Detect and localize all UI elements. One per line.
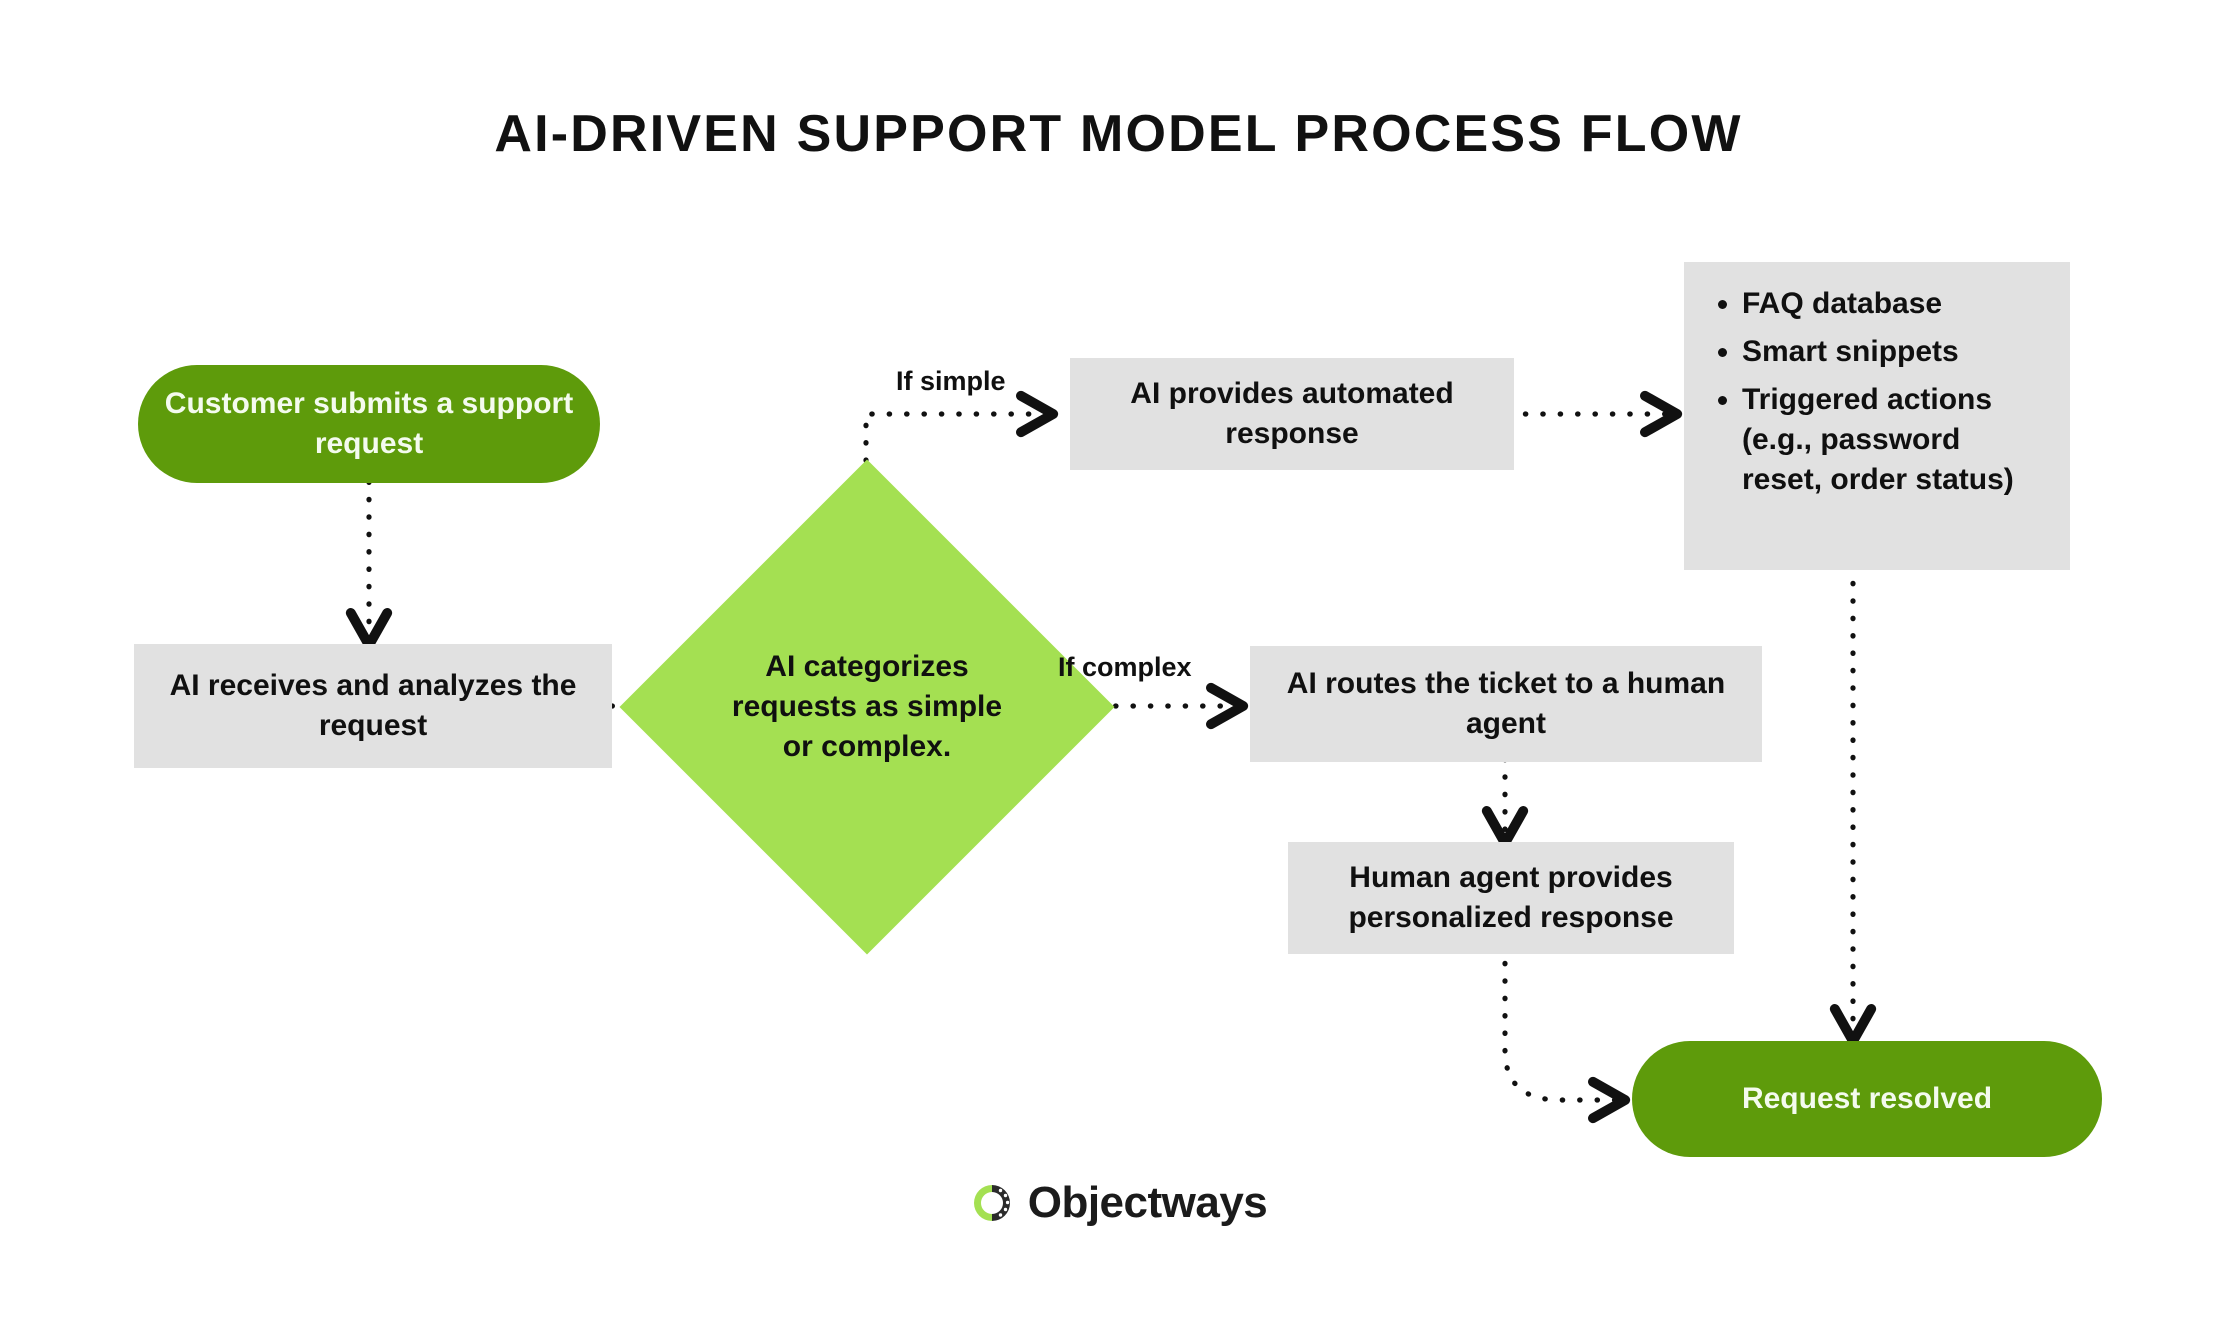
node-customer-submits-request[interactable]: Customer submits a support request [138, 365, 600, 483]
footer-logo: Objectways [0, 1178, 2237, 1228]
objectways-ring-logo-icon [970, 1181, 1014, 1225]
node-ai-routes-ticket[interactable]: AI routes the ticket to a human agent [1250, 646, 1762, 762]
node-ai-automated-response[interactable]: AI provides automated response [1070, 358, 1514, 470]
node-label: AI receives and analyzes the request [152, 666, 594, 745]
node-decision-categorize[interactable]: AI categorizes requests as simple or com… [692, 532, 1042, 882]
node-human-agent-response[interactable]: Human agent provides personalized respon… [1288, 842, 1734, 954]
node-label: AI provides automated response [1088, 374, 1496, 453]
brand-name: Objectways [1028, 1178, 1268, 1228]
list-item: Smart snippets [1742, 332, 2048, 372]
node-label: AI categorizes requests as simple or com… [731, 647, 1004, 768]
edge-label-if-complex: If complex [1058, 652, 1192, 683]
node-ai-receives-analyzes[interactable]: AI receives and analyzes the request [134, 644, 612, 768]
resources-list: FAQ database Smart snippets Triggered ac… [1700, 284, 2048, 499]
node-request-resolved[interactable]: Request resolved [1632, 1041, 2102, 1157]
node-automation-resources[interactable]: FAQ database Smart snippets Triggered ac… [1684, 262, 2070, 570]
edge-human-to-resolved [1505, 946, 1620, 1100]
node-label: Customer submits a support request [164, 384, 574, 463]
flowchart-canvas: AI-DRIVEN SUPPORT MODEL PROCESS FLOW [0, 0, 2237, 1330]
list-item: FAQ database [1742, 284, 2048, 324]
edge-label-if-simple: If simple [896, 366, 1006, 397]
list-item: Triggered actions (e.g., password reset,… [1742, 380, 2048, 500]
node-label: Human agent provides personalized respon… [1306, 858, 1716, 937]
page-title: AI-DRIVEN SUPPORT MODEL PROCESS FLOW [0, 104, 2237, 164]
node-label: Request resolved [1742, 1079, 1992, 1119]
node-label: AI routes the ticket to a human agent [1268, 664, 1744, 743]
